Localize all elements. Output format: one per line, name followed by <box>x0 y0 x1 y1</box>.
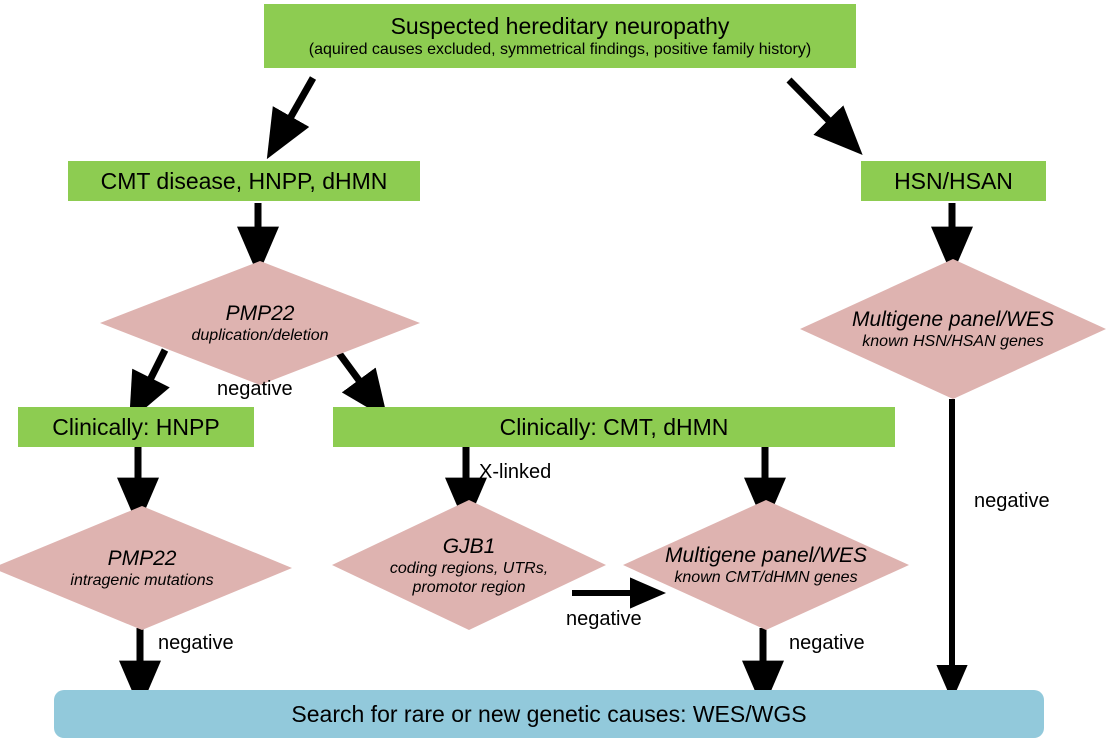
node-cmt-group-label: CMT disease, HNPP, dHMN <box>101 167 388 195</box>
edge-label-pmp22-intragenic-negative: negative <box>158 632 234 655</box>
node-multigene-panel-wes-hsn[interactable]: Multigene panel/WES known HSN/HSAN genes <box>800 259 1106 399</box>
arrow-root-to-hsn <box>789 80 844 136</box>
node-clinically-cmt-dhmn[interactable]: Clinically: CMT, dHMN <box>333 407 895 447</box>
node-pmp22-intragenic-mutations[interactable]: PMP22 intragenic mutations <box>0 506 292 630</box>
edge-label-pmp22-negative: negative <box>217 378 293 401</box>
diamond-shape <box>0 506 292 630</box>
edge-label-multigene-hsn-negative: negative <box>974 490 1050 513</box>
edge-label-gjb1-negative: negative <box>566 608 642 631</box>
diamond-shape <box>100 261 420 385</box>
flowchart-canvas: Suspected hereditary neuropathy (aquired… <box>0 0 1107 743</box>
diamond-shape <box>623 500 909 630</box>
diamond-shape <box>332 500 606 630</box>
node-final-label: Search for rare or new genetic causes: W… <box>291 700 806 728</box>
node-suspected-hereditary-neuropathy[interactable]: Suspected hereditary neuropathy (aquired… <box>264 4 856 68</box>
edge-label-gjb1-xlinked: X-linked <box>479 461 551 484</box>
node-cmt-disease-hnpp-dhmn[interactable]: CMT disease, HNPP, dHMN <box>68 161 420 201</box>
node-clinically-hnpp[interactable]: Clinically: HNPP <box>18 407 254 447</box>
node-hsn-hsan[interactable]: HSN/HSAN <box>861 161 1046 201</box>
edge-label-multigene-cmt-negative: negative <box>789 632 865 655</box>
arrow-root-to-cmt <box>280 78 313 136</box>
node-clinically-hnpp-label: Clinically: HNPP <box>52 413 219 441</box>
node-search-rare-new-genetic-causes[interactable]: Search for rare or new genetic causes: W… <box>54 690 1044 738</box>
node-multigene-panel-wes-cmt[interactable]: Multigene panel/WES known CMT/dHMN genes <box>623 500 909 630</box>
node-pmp22-duplication-deletion[interactable]: PMP22 duplication/deletion <box>100 261 420 385</box>
node-clinically-cmt-label: Clinically: CMT, dHMN <box>500 413 729 441</box>
node-root-line1: Suspected hereditary neuropathy <box>391 12 730 40</box>
node-hsn-group-label: HSN/HSAN <box>894 167 1013 195</box>
diamond-shape <box>800 259 1106 399</box>
node-root-line2: (aquired causes excluded, symmetrical fi… <box>309 40 811 60</box>
node-gjb1[interactable]: GJB1 coding regions, UTRs, promotor regi… <box>332 500 606 630</box>
